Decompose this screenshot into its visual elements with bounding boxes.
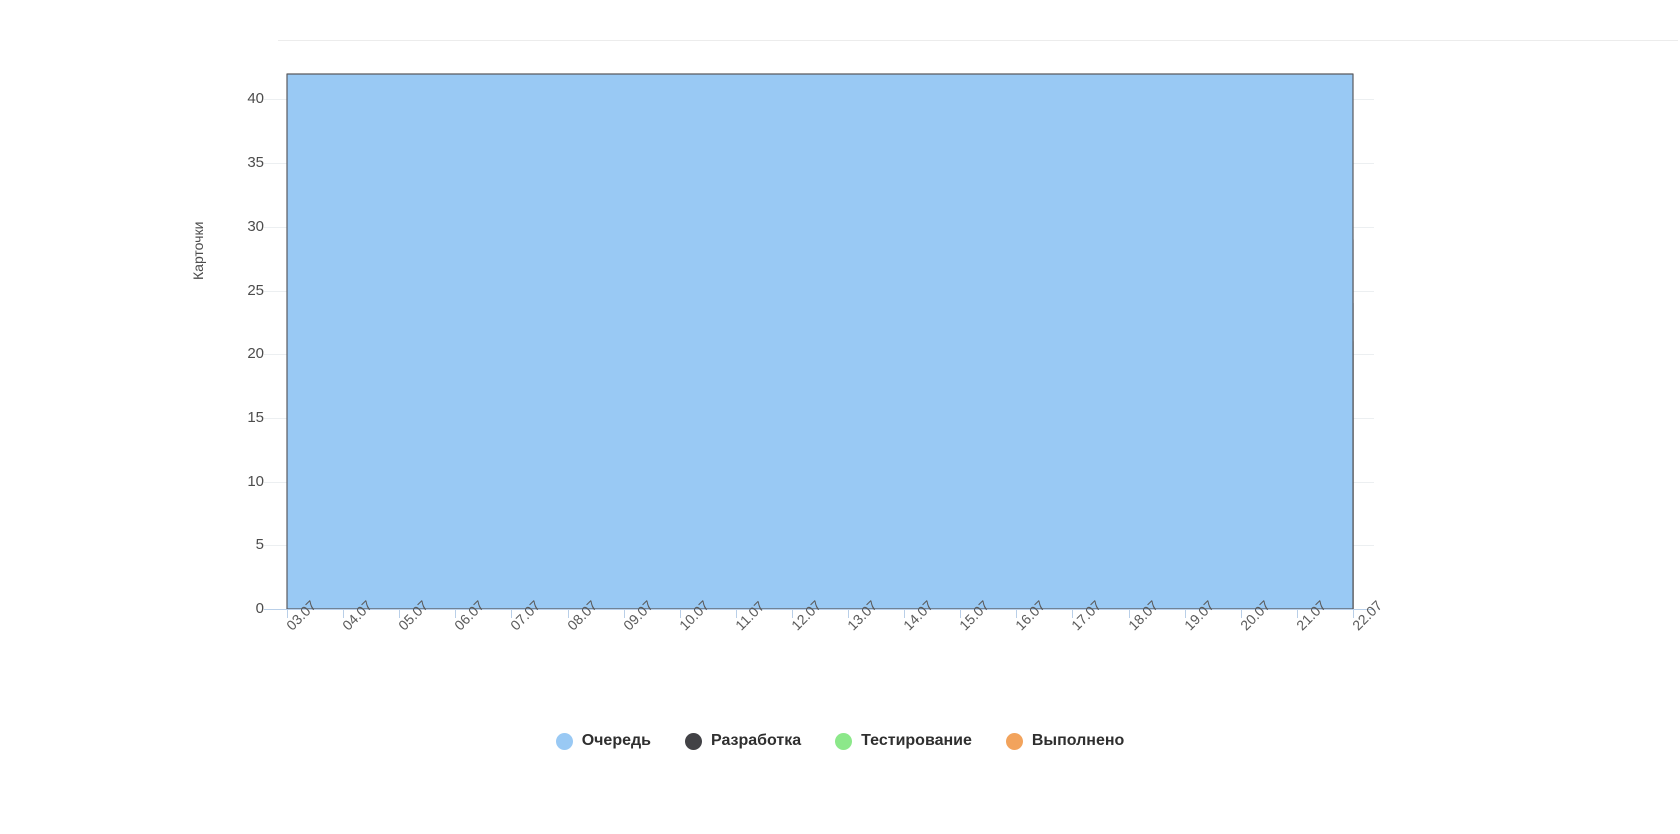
- legend-dot-icon: [1006, 733, 1023, 750]
- legend-dot-icon: [835, 733, 852, 750]
- legend-dot-icon: [685, 733, 702, 750]
- y-axis-tick-label: 10: [218, 473, 264, 490]
- legend-item-label: Очередь: [582, 732, 651, 750]
- area-series: [287, 74, 1353, 609]
- legend-item-label: Тестирование: [861, 732, 972, 750]
- chart-legend: ОчередьРазработкаТестированиеВыполнено: [0, 732, 1680, 750]
- y-axis-tick-label: 40: [218, 90, 264, 107]
- x-axis-tick-label: 22.07: [1349, 597, 1385, 633]
- y-axis-tick-label: 0: [218, 600, 264, 617]
- stacked-area-svg: [287, 74, 1353, 609]
- y-axis-tick-label: 15: [218, 409, 264, 426]
- chart-page: Карточки 0510152025303540 03.0704.0705.0…: [0, 0, 1680, 834]
- legend-dot-icon: [556, 733, 573, 750]
- legend-item[interactable]: Разработка: [685, 732, 801, 750]
- y-axis-tick-label: 30: [218, 218, 264, 235]
- y-axis-tick-label: 5: [218, 536, 264, 553]
- legend-item-label: Разработка: [711, 732, 801, 750]
- top-divider: [278, 40, 1678, 41]
- legend-item-label: Выполнено: [1032, 732, 1124, 750]
- y-axis-tick-label: 25: [218, 282, 264, 299]
- y-axis-tick-label: 35: [218, 154, 264, 171]
- y-axis-tick-label: 20: [218, 345, 264, 362]
- legend-item[interactable]: Выполнено: [1006, 732, 1124, 750]
- legend-item[interactable]: Тестирование: [835, 732, 972, 750]
- y-axis-title: Карточки: [190, 222, 206, 280]
- plot-area: [287, 74, 1353, 609]
- legend-item[interactable]: Очередь: [556, 732, 651, 750]
